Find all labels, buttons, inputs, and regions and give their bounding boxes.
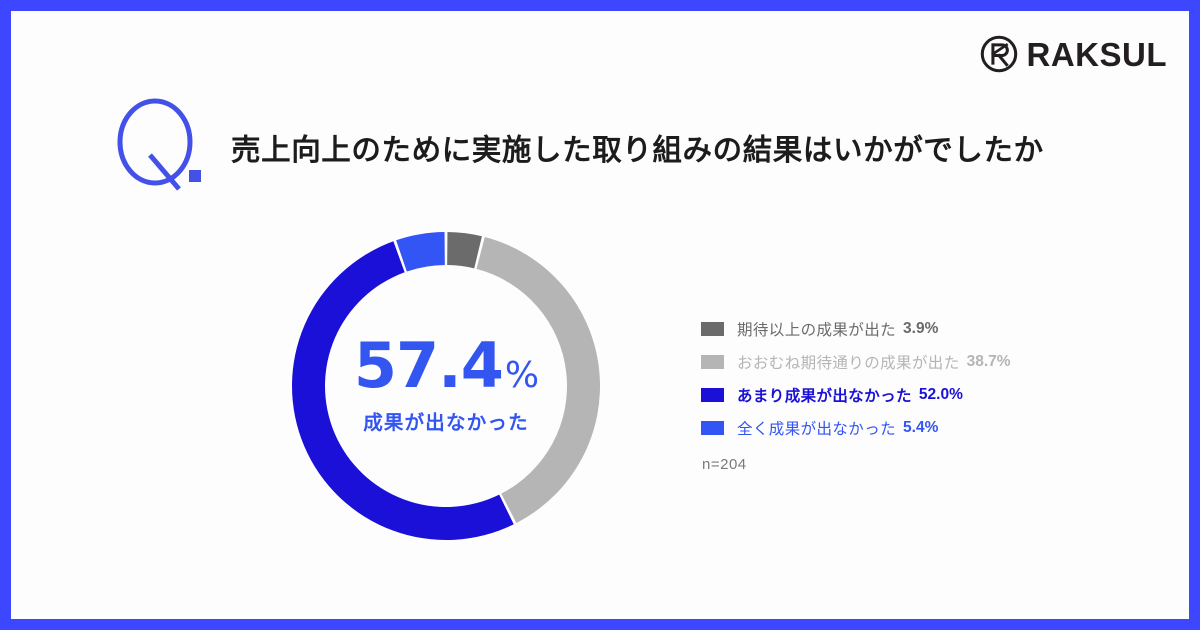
donut-segment: [447, 232, 482, 268]
legend-label: 期待以上の成果が出た: [737, 318, 896, 340]
legend-item: 全く成果が出なかった 5.4%: [701, 413, 1131, 443]
legend-swatch-icon: [701, 355, 724, 369]
legend-label: おおむね期待通りの成果が出た: [737, 351, 960, 373]
chart-legend: 期待以上の成果が出た 3.9% おおむね期待通りの成果が出た 38.7% あまり…: [701, 314, 1131, 473]
legend-value: 38.7%: [967, 353, 1011, 371]
sample-size-note: n=204: [702, 456, 1131, 473]
legend-swatch-icon: [701, 322, 724, 336]
donut-segment: [476, 237, 600, 523]
page-title: 売上向上のために実施した取り組みの結果はいかがでしたか: [231, 127, 1044, 169]
donut-segment-group: [292, 232, 600, 540]
legend-label: あまり成果が出なかった: [737, 384, 912, 406]
donut-chart: 57.4 % 成果が出なかった: [275, 215, 617, 557]
donut-segment: [396, 232, 445, 272]
legend-label: 全く成果が出なかった: [737, 417, 896, 439]
legend-value: 52.0%: [919, 386, 963, 404]
legend-swatch-icon: [701, 421, 724, 435]
legend-item: 期待以上の成果が出た 3.9%: [701, 314, 1131, 344]
question-q-mark-icon: [107, 97, 215, 193]
question-header: 売上向上のために実施した取り組みの結果はいかがでしたか: [107, 97, 1044, 193]
slide-canvas: RAKSUL 売上向上のために実施した取り組みの結果はいかがでしたか: [11, 11, 1189, 619]
legend-swatch-icon: [701, 388, 724, 402]
slide-frame: RAKSUL 売上向上のために実施した取り組みの結果はいかがでしたか: [0, 0, 1200, 630]
legend-value: 5.4%: [903, 419, 938, 437]
raksul-circle-r-mark-icon: [980, 35, 1018, 73]
logo-wordmark: RAKSUL: [1027, 38, 1168, 71]
raksul-logo: RAKSUL: [980, 35, 1168, 73]
legend-item: あまり成果が出なかった 52.0%: [701, 380, 1131, 410]
legend-value: 3.9%: [903, 320, 938, 338]
donut-segment: [292, 241, 514, 540]
legend-item: おおむね期待通りの成果が出た 38.7%: [701, 347, 1131, 377]
